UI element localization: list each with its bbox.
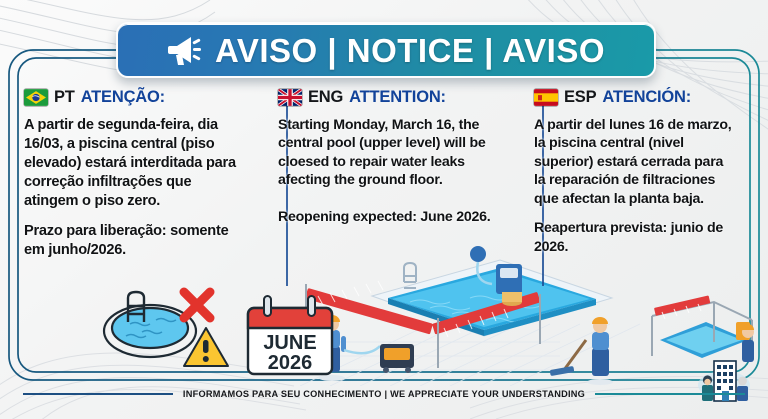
column-lang-eng: ENG [308, 88, 343, 107]
notice-paragraph: Reapertura prevista: junio de 2026. [534, 219, 732, 256]
notice-paragraph: A partir de segunda-feira, dia 16/03, a … [24, 116, 246, 211]
calendar-month-label: JUNE [263, 332, 316, 354]
notice-columns: PT ATENÇÃO: A partir de segunda-feira, d… [24, 88, 744, 313]
footer-text: INFORMAMOS PARA SEU CONHECIMENTO | WE AP… [183, 389, 585, 399]
calendar-year-label: 2026 [268, 352, 313, 374]
worker-left [318, 315, 380, 381]
uk-flag-icon [278, 89, 302, 106]
notice-poster: AVISO | NOTICE | AVISO [0, 0, 768, 419]
column-header-esp: ESP ATENCIÓN: [534, 88, 732, 107]
notice-paragraph: Prazo para liberação: somente em junho/2… [24, 222, 246, 260]
notice-paragraph: Starting Monday, March 16, the central p… [278, 116, 504, 190]
column-lang-pt: PT [54, 88, 75, 107]
column-header-eng: ENG ATTENTION: [278, 88, 504, 107]
equipment-box [380, 344, 414, 373]
warning-triangle-icon [184, 328, 228, 366]
column-attention-esp: ATENCIÓN: [602, 88, 691, 107]
notice-banner: AVISO | NOTICE | AVISO [116, 22, 656, 78]
notice-paragraph: A partir del lunes 16 de marzo, la pisci… [534, 116, 732, 208]
column-header-pt: PT ATENÇÃO: [24, 88, 246, 107]
column-attention-eng: ATTENTION: [349, 88, 446, 107]
banner-title: AVISO | NOTICE | AVISO [215, 34, 605, 67]
column-spanish: ESP ATENCIÓN: A partir del lunes 16 de m… [518, 88, 732, 313]
column-english: ENG ATTENTION: Starting Monday, March 16… [262, 88, 518, 313]
megaphone-icon [167, 33, 205, 67]
column-lang-esp: ESP [564, 88, 596, 107]
column-attention-pt: ATENÇÃO: [81, 88, 165, 107]
footer-rule-right [595, 393, 745, 395]
brazil-flag-icon [24, 89, 48, 106]
notice-paragraph: Reopening expected: June 2026. [278, 208, 504, 226]
spain-flag-icon [534, 89, 558, 106]
column-portuguese: PT ATENÇÃO: A partir de segunda-feira, d… [24, 88, 262, 313]
footer-rule-left [23, 393, 173, 395]
worker-right [550, 317, 613, 385]
footer: INFORMAMOS PARA SEU CONHECIMENTO | WE AP… [0, 383, 768, 405]
